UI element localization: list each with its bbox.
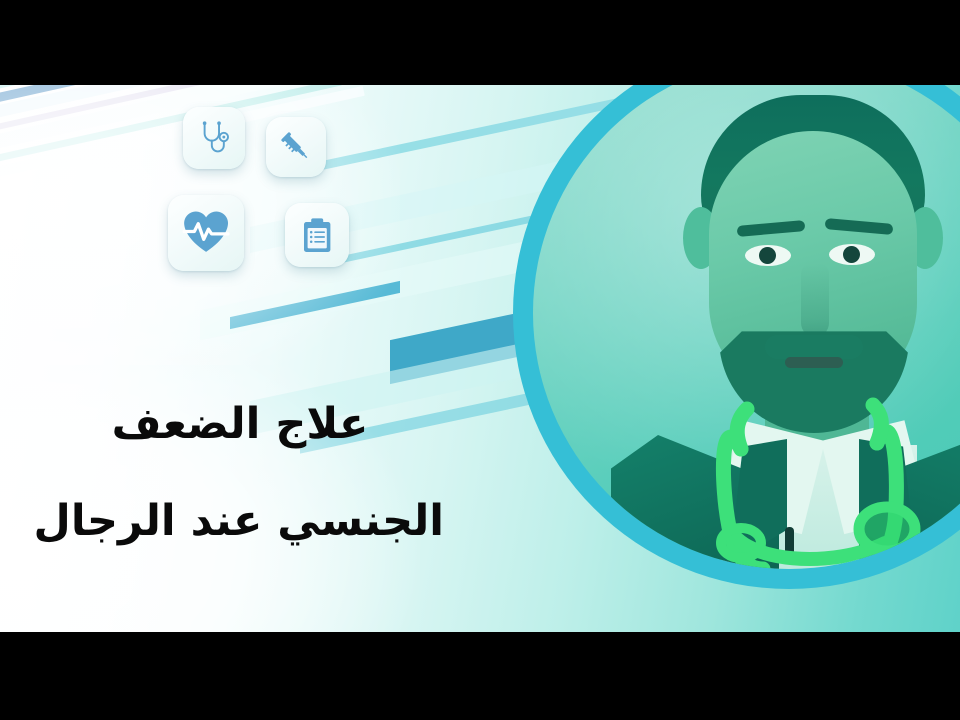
portrait-moustache [765,335,863,359]
tile-heart-pulse [168,195,244,271]
heart-pulse-icon [181,208,231,258]
tile-syringe [266,117,326,177]
video-frame: علاج الضعف الجنسي عند الرجال [0,85,960,632]
lapel-microphone [785,527,794,555]
title-line-1: علاج الضعف [60,403,420,446]
tile-stethoscope [183,107,245,169]
title-block: علاج الضعف الجنسي عند الرجال [60,403,420,543]
video-stage: علاج الضعف الجنسي عند الرجال [0,0,960,720]
portrait-eye-right [829,244,875,265]
stethoscope-icon [195,119,233,157]
title-line-2: الجنسي عند الرجال [60,500,444,543]
portrait-eye-left [745,245,791,266]
syringe-icon [277,128,314,165]
tile-clipboard [285,203,349,267]
clipboard-icon [298,216,336,254]
portrait-nose [801,263,829,337]
letterbox-bottom [0,632,960,720]
letterbox-top [0,0,960,85]
portrait-mouth [785,357,843,368]
